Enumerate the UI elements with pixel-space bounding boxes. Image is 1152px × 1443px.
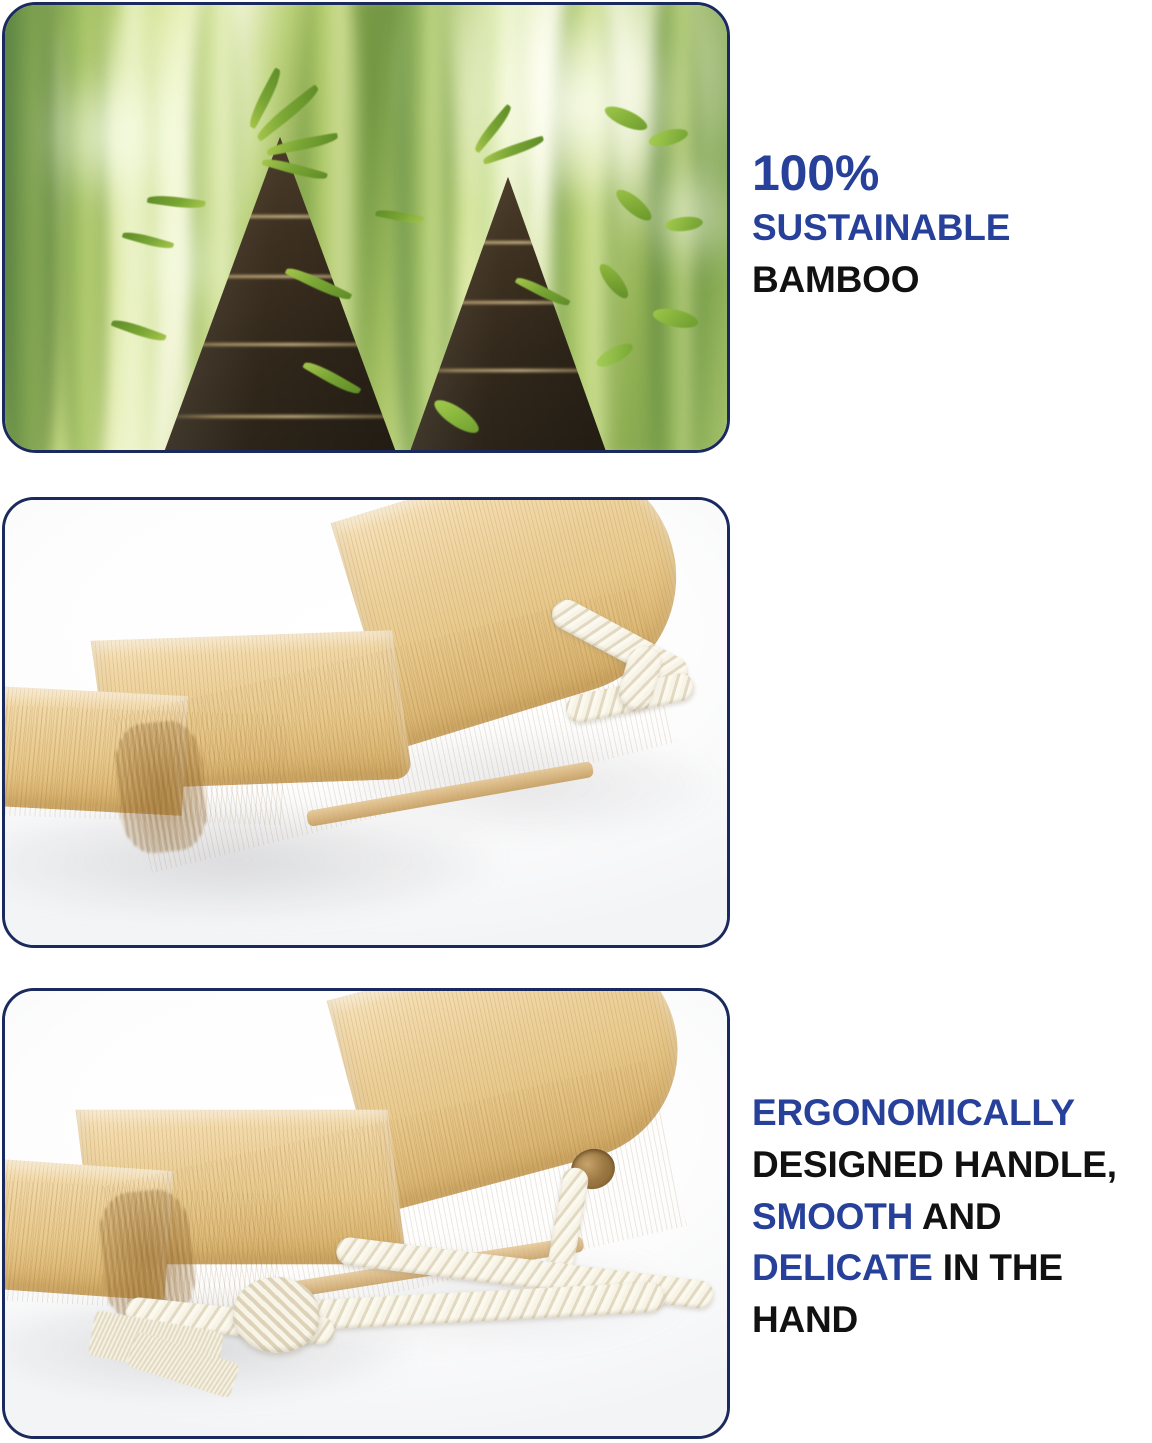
headline-segment: BAMBOO: [752, 259, 919, 300]
lanyard-detail-photo: [5, 991, 727, 1436]
headline-1: 100% SUSTAINABLE BAMBOO: [752, 144, 1144, 306]
headline-line: BAMBOO: [752, 254, 1144, 306]
feature-row-sustainable-bamboo: 100% SUSTAINABLE BAMBOO: [0, 0, 1152, 455]
headline-segment: 100%: [752, 145, 879, 201]
headline-line: 100%: [752, 144, 1144, 202]
feature-text-sustainable-bamboo: 100% SUSTAINABLE BAMBOO: [752, 144, 1144, 306]
image-panel-lanyard-detail: [2, 988, 730, 1439]
sunlight-glow: [35, 65, 185, 205]
sunlight-glow: [125, 215, 235, 315]
bamboo-forest-photo: [5, 5, 727, 450]
image-panel-bamboo-forest: [2, 2, 730, 453]
headline-segment: SUSTAINABLE: [752, 207, 1010, 248]
headline-line: SUSTAINABLE: [752, 202, 1144, 254]
feature-row-ergonomic-handle: ERGONOMICALLY DESIGNED HANDLE, SMOOTH AN…: [0, 495, 1152, 950]
infographic-page: 100% SUSTAINABLE BAMBOO: [0, 0, 1152, 1443]
bamboo-handle-photo: [5, 500, 727, 945]
image-panel-bamboo-handle: [2, 497, 730, 948]
feature-row-tail-lanyard: TAIL LANYARD DESIGN FOR EASY STORAGE: [0, 986, 1152, 1441]
